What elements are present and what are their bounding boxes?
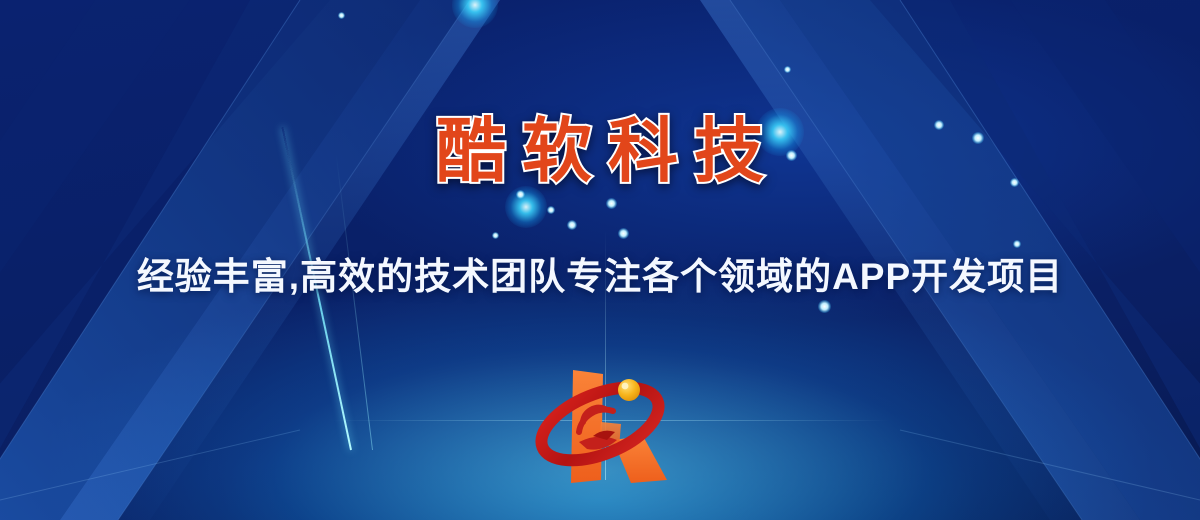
glow-particle-icon bbox=[452, 0, 498, 28]
promo-banner: 酷软科技 经验丰富,高效的技术团队专注各个领域的APP开发项目 bbox=[0, 0, 1200, 520]
glow-particle-icon bbox=[547, 206, 555, 214]
glow-particle-icon bbox=[618, 228, 629, 239]
glow-particle-icon bbox=[338, 12, 345, 19]
k-orbit-logo-icon bbox=[521, 352, 679, 500]
glow-particle-icon bbox=[492, 232, 499, 239]
page-subtitle: 经验丰富,高效的技术团队专注各个领域的APP开发项目 bbox=[0, 246, 1200, 300]
glow-particle-icon bbox=[567, 220, 577, 230]
page-title: 酷软科技 bbox=[0, 95, 1200, 196]
glow-particle-icon bbox=[784, 66, 791, 73]
glow-particle-icon bbox=[606, 198, 617, 209]
glow-particle-icon bbox=[818, 300, 831, 313]
light-beam-secondary-icon bbox=[335, 152, 373, 450]
logo-artwork bbox=[521, 352, 679, 500]
